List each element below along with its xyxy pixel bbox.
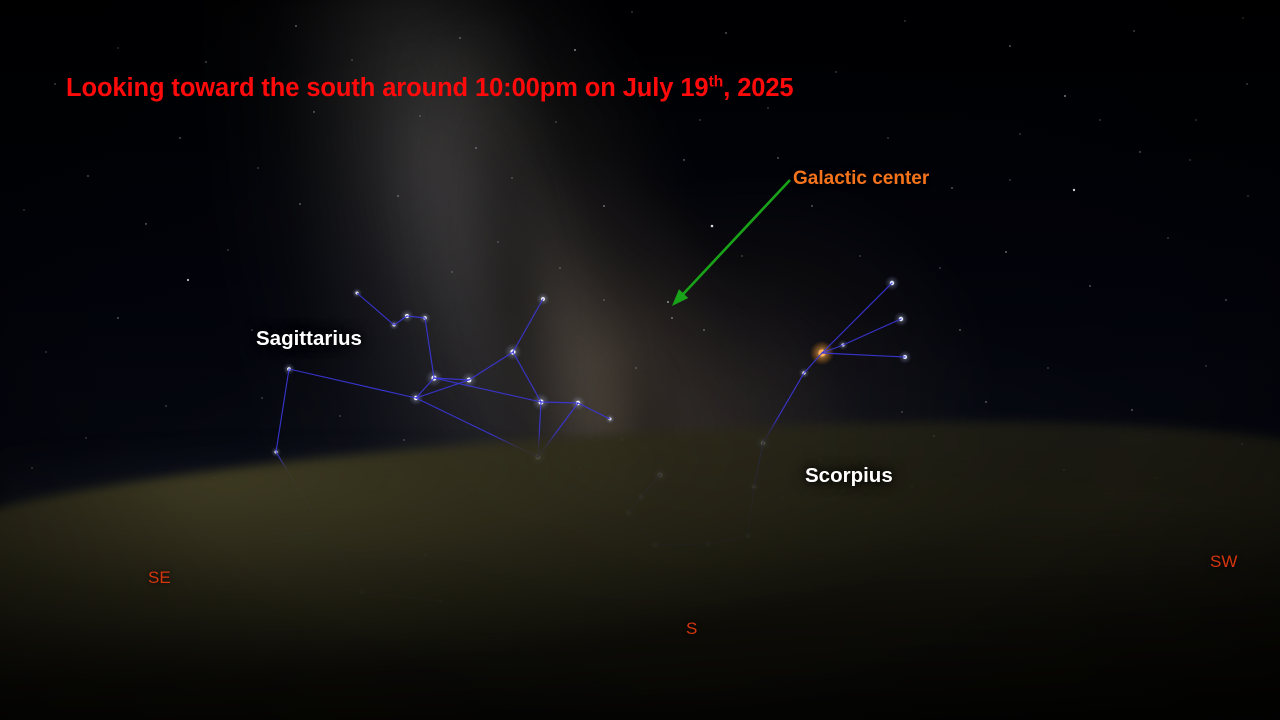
background-star — [555, 121, 556, 122]
title-text-main: Looking toward the south around 10:00pm … — [66, 74, 709, 102]
background-star — [1247, 195, 1248, 196]
background-star — [397, 195, 398, 196]
background-star — [179, 137, 180, 138]
background-star — [117, 47, 118, 48]
star-sgr-n — [275, 451, 278, 454]
background-star — [31, 467, 32, 468]
star-sgr-g — [510, 349, 515, 354]
background-star — [1089, 285, 1090, 286]
background-star — [45, 351, 46, 352]
background-star — [904, 20, 905, 21]
background-star — [703, 329, 704, 330]
star-sgr-i — [538, 399, 543, 404]
background-star — [603, 205, 605, 207]
star-sco-cl1 — [890, 281, 894, 285]
background-star — [251, 329, 252, 330]
star-sgr-e — [431, 375, 436, 380]
background-star — [261, 397, 262, 398]
star-sgr-l — [414, 396, 418, 400]
background-star — [1189, 159, 1190, 160]
background-star — [117, 317, 118, 318]
background-star — [1073, 189, 1075, 191]
background-star — [1009, 45, 1011, 47]
background-star — [811, 205, 812, 206]
background-star — [1195, 119, 1196, 120]
star-sgr-b — [393, 324, 396, 327]
constellation-label-sagittarius: Sagittarius — [256, 327, 362, 351]
background-star — [667, 301, 669, 303]
constellation-label-scorpius: Scorpius — [805, 464, 893, 488]
background-star — [901, 411, 902, 412]
background-star — [631, 11, 632, 12]
background-star — [887, 137, 888, 138]
background-star — [1167, 237, 1168, 238]
star-sgr-c — [405, 314, 409, 318]
star-sgr-r — [609, 418, 612, 421]
star-sgr-a — [356, 292, 359, 295]
background-star — [165, 405, 166, 406]
background-star — [767, 107, 768, 108]
star-sgr-j — [576, 401, 580, 405]
background-star — [1131, 409, 1132, 410]
background-star — [603, 299, 604, 300]
galactic-center-label: Galactic center — [793, 168, 929, 190]
star-sco-cl3 — [903, 355, 907, 359]
background-star — [257, 167, 258, 168]
background-star — [511, 177, 512, 178]
star-sco-cm — [842, 344, 845, 347]
background-star — [475, 147, 476, 148]
background-star — [725, 32, 726, 33]
background-star — [1009, 179, 1010, 180]
background-star — [419, 115, 420, 116]
background-star — [459, 37, 460, 38]
background-star — [1133, 30, 1134, 31]
background-star — [1225, 299, 1226, 300]
background-star — [403, 439, 404, 440]
background-star — [683, 159, 684, 160]
background-star — [87, 175, 88, 176]
background-star — [699, 119, 700, 120]
background-star — [1047, 367, 1048, 368]
star-sco-antares — [818, 349, 825, 356]
sky-chart-scene: Looking toward the south around 10:00pm … — [0, 0, 1280, 720]
background-star — [574, 49, 576, 51]
background-star — [559, 267, 560, 268]
background-star — [497, 241, 498, 242]
compass-mark-s: S — [686, 619, 697, 639]
background-star — [23, 209, 24, 210]
background-star — [1246, 83, 1247, 84]
background-star — [951, 187, 952, 188]
background-star — [313, 111, 314, 112]
background-star — [1242, 17, 1243, 18]
background-star — [1139, 151, 1140, 152]
background-star — [351, 59, 352, 60]
background-star — [741, 255, 742, 256]
background-star — [295, 25, 297, 27]
background-star — [939, 267, 940, 268]
background-star — [205, 61, 206, 62]
star-sgr-f — [467, 378, 472, 383]
star-sco-cl2 — [899, 317, 903, 321]
background-star — [1099, 119, 1100, 120]
background-star — [835, 71, 836, 72]
background-star — [711, 225, 714, 228]
background-star — [1205, 365, 1206, 366]
compass-mark-se: SE — [148, 568, 171, 588]
background-star — [299, 203, 300, 204]
background-star — [671, 317, 673, 319]
title-text-year: , 2025 — [723, 74, 793, 102]
compass-mark-sw: SW — [1210, 552, 1237, 572]
background-star — [777, 157, 778, 158]
background-star — [227, 249, 228, 250]
background-star — [187, 279, 189, 281]
background-star — [1019, 133, 1020, 134]
background-star — [959, 329, 960, 330]
background-star — [85, 437, 86, 438]
background-star — [1005, 251, 1007, 253]
background-star — [451, 271, 452, 272]
star-sgr-h — [541, 297, 545, 301]
background-star — [635, 367, 636, 368]
star-sco-t1 — [802, 371, 805, 374]
background-star — [54, 83, 55, 84]
page-title: Looking toward the south around 10:00pm … — [66, 74, 794, 103]
background-star — [859, 255, 860, 256]
star-sgr-d — [423, 316, 426, 319]
background-star — [985, 401, 986, 402]
star-sgr-m — [287, 367, 291, 371]
background-star — [1064, 95, 1066, 97]
title-ordinal-suffix: th — [709, 74, 724, 91]
background-star — [145, 223, 146, 224]
background-star — [339, 415, 340, 416]
